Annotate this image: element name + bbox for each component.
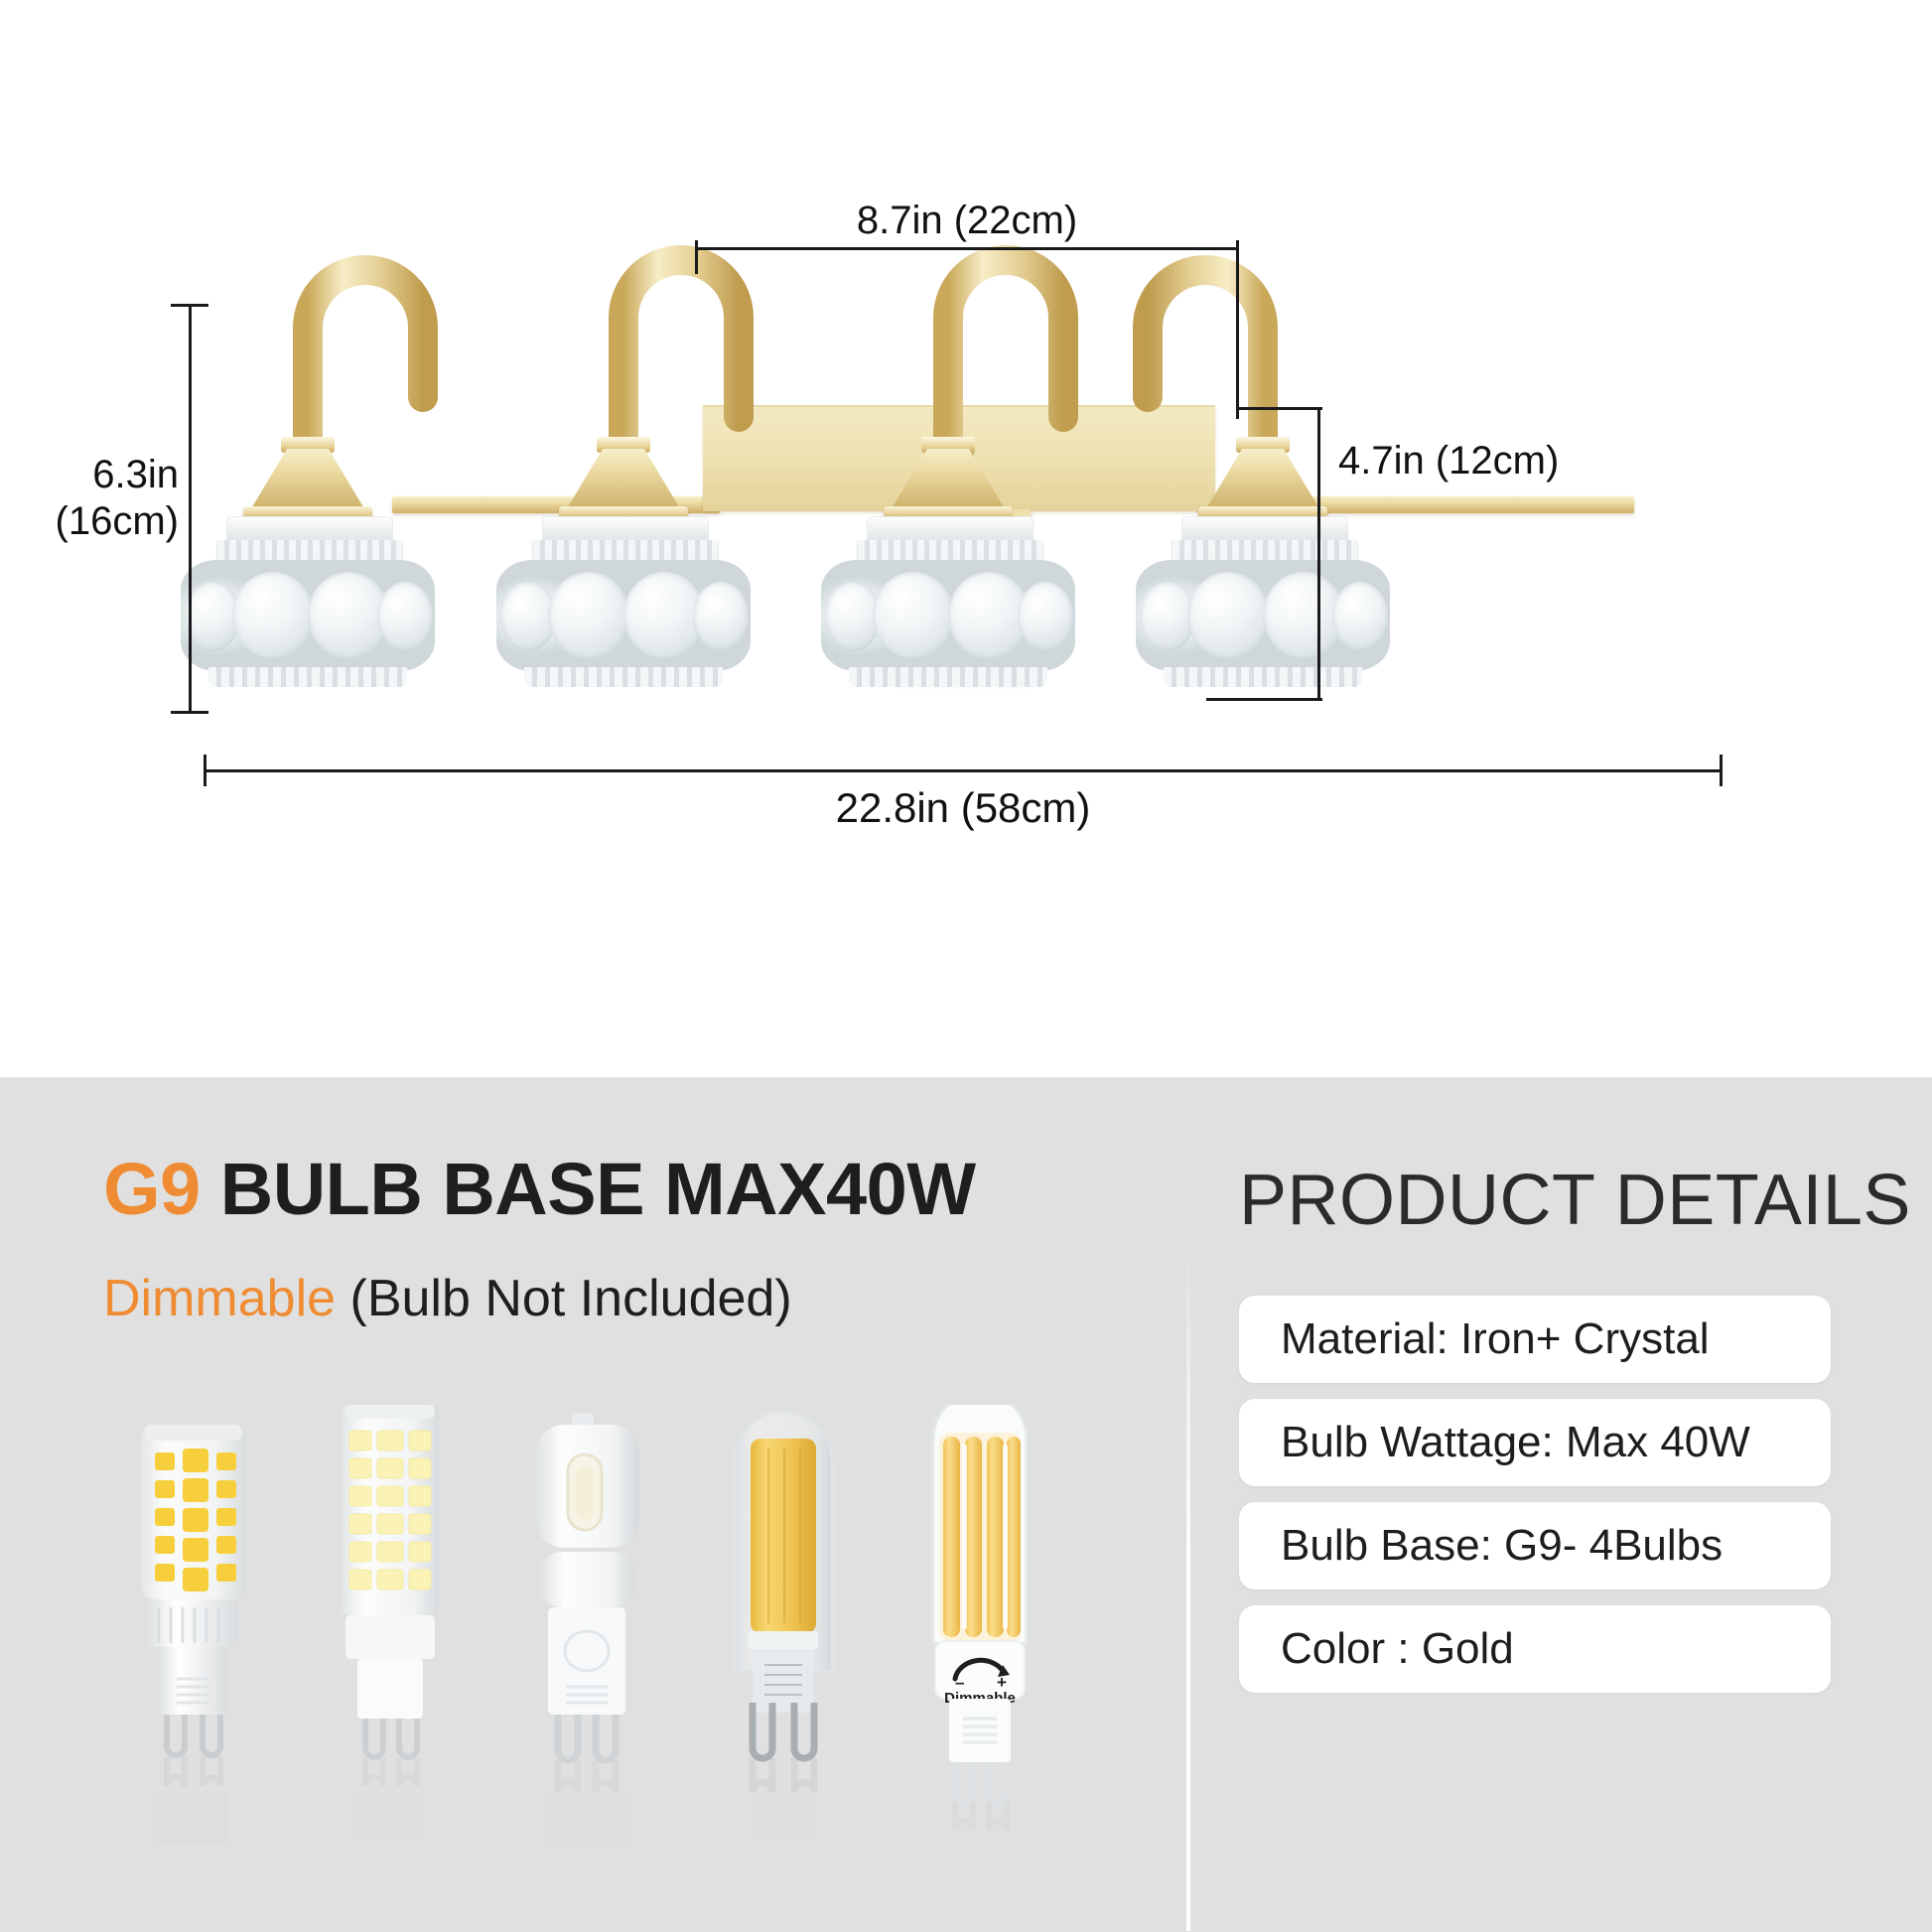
shade-skirt (208, 667, 407, 687)
detail-card-material: Material: Iron+ Crystal (1239, 1296, 1831, 1383)
shade-lobe (693, 582, 749, 651)
bulb-2 (316, 1405, 465, 1871)
bulb-4 (709, 1405, 858, 1871)
dimension-tick-right (1720, 755, 1723, 786)
shade-skirt (1164, 667, 1362, 687)
shade-body (821, 560, 1075, 671)
dimension-line-arm-spacing (695, 247, 1239, 250)
shade-skirt (524, 667, 723, 687)
shade-lobe (873, 572, 954, 659)
dimension-label-height: 6.3in (16cm) (50, 452, 179, 545)
shade-skirt (849, 667, 1047, 687)
g9-led-filament-dimmable-bulb-icon: – + Dimmable (905, 1405, 1054, 1871)
dimension-label-height-in: 6.3in (50, 452, 179, 498)
dimension-line-height (189, 304, 192, 714)
dimension-line-depth (1317, 407, 1320, 701)
shade-lobe (232, 572, 314, 659)
dimension-tick-bottom (171, 711, 208, 714)
shade-body (1136, 560, 1390, 671)
g9-led-frosted-bulb-icon (512, 1405, 661, 1871)
shade-lobe (1018, 582, 1073, 651)
product-details-title: PRODUCT DETAILS (1239, 1160, 1911, 1241)
dimmable-subline-rest: (Bulb Not Included) (350, 1270, 792, 1327)
g9-cob-clear-bulb-icon (709, 1405, 858, 1871)
dimension-tick-left (695, 240, 698, 274)
bulb-base-headline: G9 BULB BASE MAX40W (103, 1147, 976, 1231)
lamp-head-4 (1114, 0, 1412, 1077)
bulb-1 (119, 1405, 268, 1871)
dimension-leader-top (1237, 407, 1322, 410)
shade-lobe (548, 572, 629, 659)
shade-lobe (377, 582, 433, 651)
bulb-base-headline-accent: G9 (103, 1148, 201, 1230)
crystal-shade (819, 516, 1077, 690)
dimension-leader-bottom (1206, 698, 1322, 701)
dimension-tick-top (171, 304, 208, 307)
panel-divider (1186, 1246, 1190, 1931)
dimension-label-depth: 4.7in (12cm) (1338, 439, 1559, 483)
detail-card-wattage: Bulb Wattage: Max 40W (1239, 1399, 1831, 1486)
detail-card-color: Color : Gold (1239, 1605, 1831, 1693)
dimension-tick-left (204, 755, 207, 786)
shade-lobe (1187, 572, 1269, 659)
detail-card-bulb-base-text: Bulb Base: G9- 4Bulbs (1281, 1521, 1723, 1571)
bulb-5: – + Dimmable (905, 1405, 1054, 1871)
g9-led-smd-tall-bulb-icon (316, 1405, 465, 1871)
dimmable-subline-accent: Dimmable (103, 1270, 336, 1327)
crystal-shade (494, 516, 753, 690)
dimension-label-width: 22.8in (58cm) (204, 784, 1723, 832)
lamp-head-2 (475, 0, 772, 1077)
crystal-shade (179, 516, 437, 690)
bulb-base-headline-rest: BULB BASE MAX40W (220, 1148, 976, 1230)
crystal-shade (1134, 516, 1392, 690)
dimmable-subline: Dimmable (Bulb Not Included) (103, 1269, 792, 1328)
g9-led-smd-warm-bulb-icon (119, 1405, 268, 1871)
dimension-tick-right (1236, 240, 1239, 419)
detail-card-color-text: Color : Gold (1281, 1624, 1514, 1674)
dimension-label-height-cm: (16cm) (50, 498, 179, 545)
detail-card-bulb-base: Bulb Base: G9- 4Bulbs (1239, 1502, 1831, 1589)
product-infographic: 8.7in (22cm) 6.3in (16cm) 4.7in (12cm) 2… (0, 0, 1932, 1932)
dimension-line-width (204, 769, 1723, 772)
shade-lobe (1332, 582, 1388, 651)
shade-body (181, 560, 435, 671)
detail-card-wattage-text: Bulb Wattage: Max 40W (1281, 1418, 1750, 1467)
vanity-light-fixture (0, 0, 1932, 1077)
shade-body (496, 560, 751, 671)
bulb-3 (512, 1405, 661, 1871)
detail-card-material-text: Material: Iron+ Crystal (1281, 1314, 1710, 1364)
dimension-label-arm-spacing: 8.7in (22cm) (695, 199, 1239, 243)
lamp-head-3 (799, 0, 1097, 1077)
lamp-head-1 (159, 0, 457, 1077)
dimension-diagram-section: 8.7in (22cm) 6.3in (16cm) 4.7in (12cm) 2… (0, 0, 1932, 1077)
bulb-gallery: – + Dimmable (119, 1405, 1112, 1871)
